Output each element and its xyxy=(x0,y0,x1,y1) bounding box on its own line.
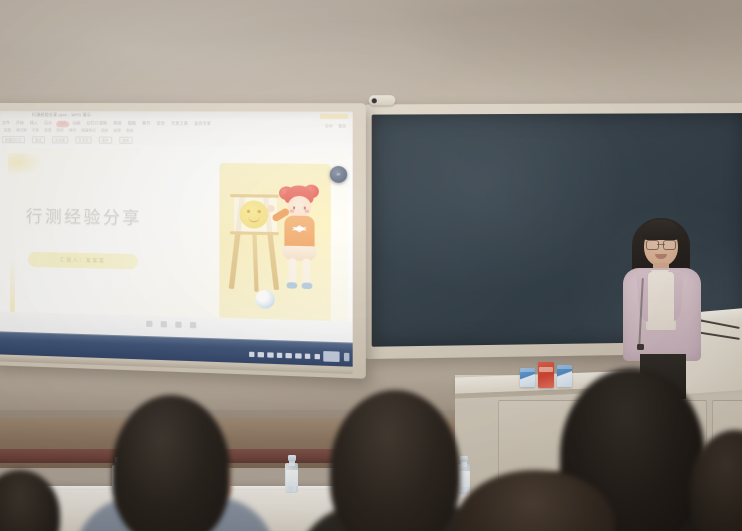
chat-icon[interactable] xyxy=(305,353,311,359)
ppt-ribbon[interactable]: 行测经验分享.pptx - WPS 演示 文件 开始 插入 设计 切换 动画 幻… xyxy=(0,111,353,147)
slide-subtitle-text: 汇报人：某某某 xyxy=(60,257,106,265)
ppt-highlight-badge xyxy=(56,121,69,127)
presenter xyxy=(604,216,714,391)
ppt-toolbar[interactable]: 粘贴 格式刷 字体 段落 形状 排列 快速样式 填充 轮廓 查找 xyxy=(4,128,133,134)
ai-assistant-floating-button[interactable]: AI xyxy=(330,166,347,183)
red-package-center xyxy=(538,362,554,388)
login-button[interactable]: 登录 xyxy=(338,124,346,129)
mail-icon[interactable] xyxy=(286,352,292,358)
tab-section[interactable]: 章节 xyxy=(142,120,150,126)
easel-leg-middle xyxy=(252,232,258,292)
lapel-microphone-clip xyxy=(637,344,644,350)
group-chart[interactable]: 图表 xyxy=(119,137,132,144)
view-reading-icon[interactable] xyxy=(175,322,181,328)
girl-leg-right xyxy=(303,259,311,285)
package-cap xyxy=(557,365,572,369)
glasses-icon xyxy=(646,240,676,248)
view-sorter-icon[interactable] xyxy=(161,321,167,327)
girl-skirt xyxy=(282,246,317,261)
tool-outline[interactable]: 轮廓 xyxy=(113,129,120,134)
wps-icon[interactable] xyxy=(295,353,301,359)
folder-icon[interactable] xyxy=(277,352,283,358)
camera-sensor-icon xyxy=(369,95,396,105)
tab-file[interactable]: 文件 xyxy=(2,120,10,126)
tool-paragraph[interactable]: 段落 xyxy=(44,128,51,133)
collaborate-button[interactable]: 协作 xyxy=(325,124,333,129)
slide-1[interactable]: 行测经验分享 汇报人：某某某 xyxy=(2,147,348,338)
group-layout[interactable]: 版式 xyxy=(32,136,45,143)
view-normal-icon[interactable] xyxy=(146,321,152,327)
tool-paste[interactable]: 粘贴 xyxy=(4,128,11,133)
girl-shoe-left xyxy=(287,282,298,289)
blue-package-left xyxy=(520,368,535,387)
taskbar-icon-group[interactable] xyxy=(249,351,320,359)
tool-format-painter[interactable]: 格式刷 xyxy=(16,128,27,133)
water-bottle-2 xyxy=(285,455,298,493)
tab-design[interactable]: 设计 xyxy=(44,120,52,126)
interactive-flat-panel[interactable]: 行测经验分享.pptx - WPS 演示 文件 开始 插入 设计 切换 动画 幻… xyxy=(0,103,366,379)
tool-shape[interactable]: 形状 xyxy=(56,128,63,133)
tab-slideshow[interactable]: 幻灯片放映 xyxy=(87,120,107,126)
taskbar-clock[interactable] xyxy=(323,351,339,362)
girl-leg-left xyxy=(289,258,297,284)
girl-hand xyxy=(267,205,274,212)
ppt-tab-bar[interactable]: 文件 开始 插入 设计 切换 动画 幻灯片放映 审阅 视图 章节 安全 开发工具… xyxy=(2,120,211,127)
ppt-share-button[interactable] xyxy=(320,113,348,118)
tab-member[interactable]: 会员专享 xyxy=(194,121,211,127)
search-icon[interactable] xyxy=(258,351,264,357)
ppt-right-buttons[interactable]: 协作 登录 xyxy=(325,124,346,129)
group-new-slide[interactable]: 新建幻灯片 xyxy=(2,136,25,143)
tool-fill[interactable]: 填充 xyxy=(101,128,108,133)
package-cap xyxy=(520,368,535,372)
tab-insert[interactable]: 插入 xyxy=(30,120,38,126)
show-desktop-button[interactable] xyxy=(344,353,349,362)
ai-button-label: AI xyxy=(337,172,341,176)
audience-member-1 xyxy=(0,470,60,531)
tool-quick-styles[interactable]: 快速样式 xyxy=(81,128,96,133)
slide-decor-corner xyxy=(8,153,42,175)
slide-decor-bar xyxy=(10,257,15,319)
ball-icon xyxy=(255,290,274,309)
browser-icon[interactable] xyxy=(267,352,273,358)
classroom-photo-scene: 行测经验分享.pptx - WPS 演示 文件 开始 插入 设计 切换 动画 幻… xyxy=(0,0,742,531)
star-icon xyxy=(292,225,307,230)
tab-view[interactable]: 视图 xyxy=(128,120,136,126)
ppt-window-title: 行测经验分享.pptx - WPS 演示 xyxy=(32,112,91,118)
start-icon[interactable] xyxy=(249,351,255,357)
tool-find[interactable]: 查找 xyxy=(126,129,133,134)
ppt-view-icons[interactable] xyxy=(146,321,196,329)
cartoon-girl xyxy=(277,182,327,308)
tab-animations[interactable]: 动画 xyxy=(72,120,80,126)
cheek-right xyxy=(305,210,309,213)
presenter-hair-front xyxy=(642,220,680,240)
slide-illustration xyxy=(219,163,330,323)
media-icon[interactable] xyxy=(314,353,320,359)
tool-arrange[interactable]: 排列 xyxy=(69,128,76,133)
ppt-group-bar[interactable]: 新建幻灯片 版式 文本框 艺术字 图片 图表 xyxy=(2,136,132,144)
eye-left xyxy=(293,206,295,209)
slide-title: 行测经验分享 xyxy=(26,203,142,229)
tab-developer[interactable]: 开发工具 xyxy=(171,121,188,127)
view-slideshow-icon[interactable] xyxy=(190,322,196,328)
tab-home[interactable]: 开始 xyxy=(16,120,24,126)
cheek-left xyxy=(290,209,294,212)
tool-font[interactable]: 字体 xyxy=(32,128,39,133)
slide-subtitle-pill: 汇报人：某某某 xyxy=(28,252,138,270)
group-textbox[interactable]: 文本框 xyxy=(52,136,68,143)
smiley-face-icon xyxy=(240,200,269,228)
display-screen[interactable]: 行测经验分享.pptx - WPS 演示 文件 开始 插入 设计 切换 动画 幻… xyxy=(0,111,353,367)
group-picture[interactable]: 图片 xyxy=(99,137,112,144)
girl-shoe-right xyxy=(302,283,313,290)
group-wordart[interactable]: 艺术字 xyxy=(75,136,91,143)
tab-review[interactable]: 审阅 xyxy=(113,120,121,126)
presenter-inner-top xyxy=(648,272,674,330)
blue-package-right xyxy=(557,365,572,387)
tab-security[interactable]: 安全 xyxy=(157,120,165,126)
